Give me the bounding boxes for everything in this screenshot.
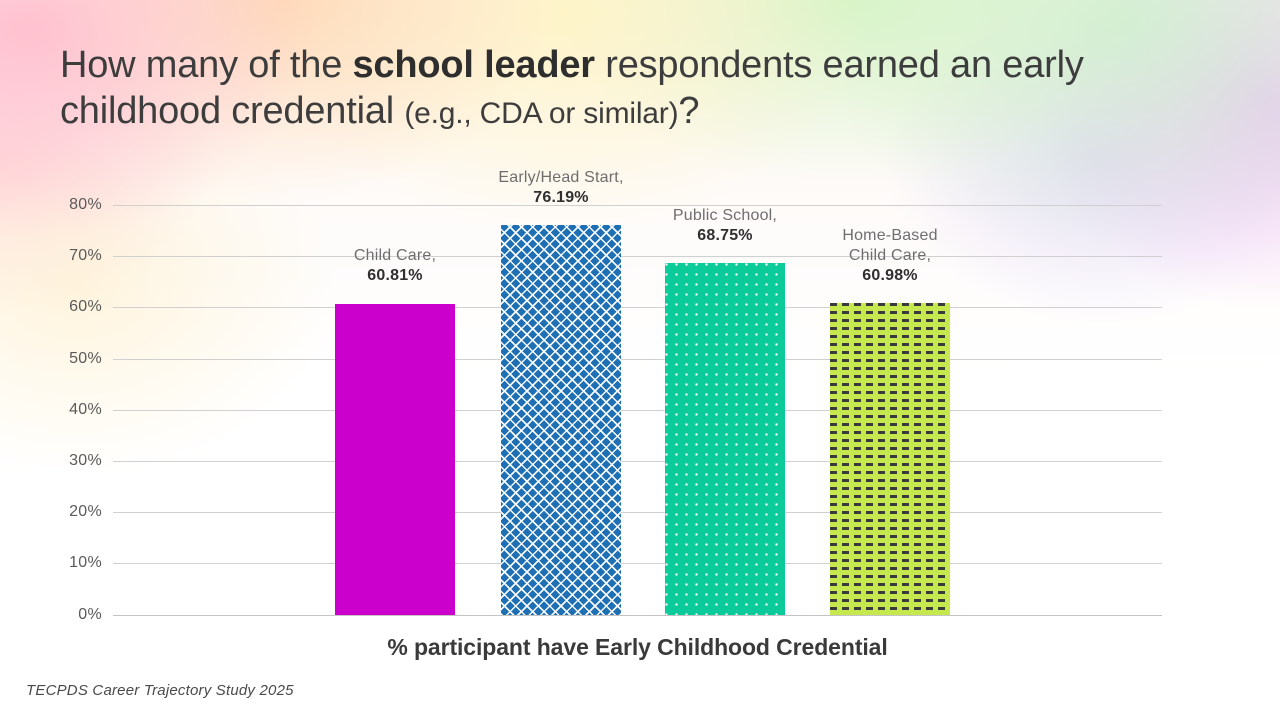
- bar-public-school[interactable]: [665, 263, 785, 615]
- bar-home-based-child-care[interactable]: [830, 303, 950, 615]
- source-note: TECPDS Career Trajectory Study 2025: [26, 682, 294, 699]
- gridline-baseline-0: [113, 615, 1162, 616]
- data-label-home-based-child-care: Home-Based Child Care, 60.98%: [800, 226, 980, 286]
- data-label-child-care-value: 60.81%: [305, 266, 485, 286]
- y-axis-tick-20: 20%: [42, 503, 102, 521]
- gridline-60: [113, 307, 1162, 308]
- data-label-child-care: Child Care, 60.81%: [305, 246, 485, 286]
- gridline-40: [113, 410, 1162, 411]
- y-axis-tick-50: 50%: [42, 350, 102, 368]
- data-label-home-based-child-care-value: 60.98%: [800, 266, 980, 286]
- gridline-30: [113, 461, 1162, 462]
- data-label-early-head-start-value: 76.19%: [471, 188, 651, 208]
- data-label-home-based-child-care-name-line1: Home-Based: [800, 226, 980, 246]
- data-label-public-school: Public School, 68.75%: [635, 206, 815, 246]
- y-axis-tick-60: 60%: [42, 298, 102, 316]
- bar-child-care[interactable]: [335, 304, 455, 615]
- data-label-child-care-name: Child Care,: [305, 246, 485, 266]
- gridline-20: [113, 512, 1162, 513]
- y-axis-tick-10: 10%: [42, 554, 102, 572]
- data-label-early-head-start: Early/Head Start, 76.19%: [471, 168, 651, 208]
- gridline-70: [113, 256, 1162, 257]
- data-label-public-school-name: Public School,: [635, 206, 815, 226]
- bar-early-head-start[interactable]: [501, 225, 621, 615]
- data-label-home-based-child-care-name-line2: Child Care,: [800, 246, 980, 266]
- bar-chart: 80% 70% 60% 50% 40% 30% 20% 10% 0% Child…: [0, 0, 1280, 720]
- data-label-early-head-start-name: Early/Head Start,: [471, 168, 651, 188]
- y-axis-tick-70: 70%: [42, 247, 102, 265]
- data-label-public-school-value: 68.75%: [635, 226, 815, 246]
- y-axis-tick-0: 0%: [42, 606, 102, 624]
- y-axis-tick-80: 80%: [42, 196, 102, 214]
- gridline-10: [113, 563, 1162, 564]
- x-axis-title: % participant have Early Childhood Crede…: [113, 634, 1162, 661]
- y-axis-tick-40: 40%: [42, 401, 102, 419]
- y-axis-tick-30: 30%: [42, 452, 102, 470]
- gridline-50: [113, 359, 1162, 360]
